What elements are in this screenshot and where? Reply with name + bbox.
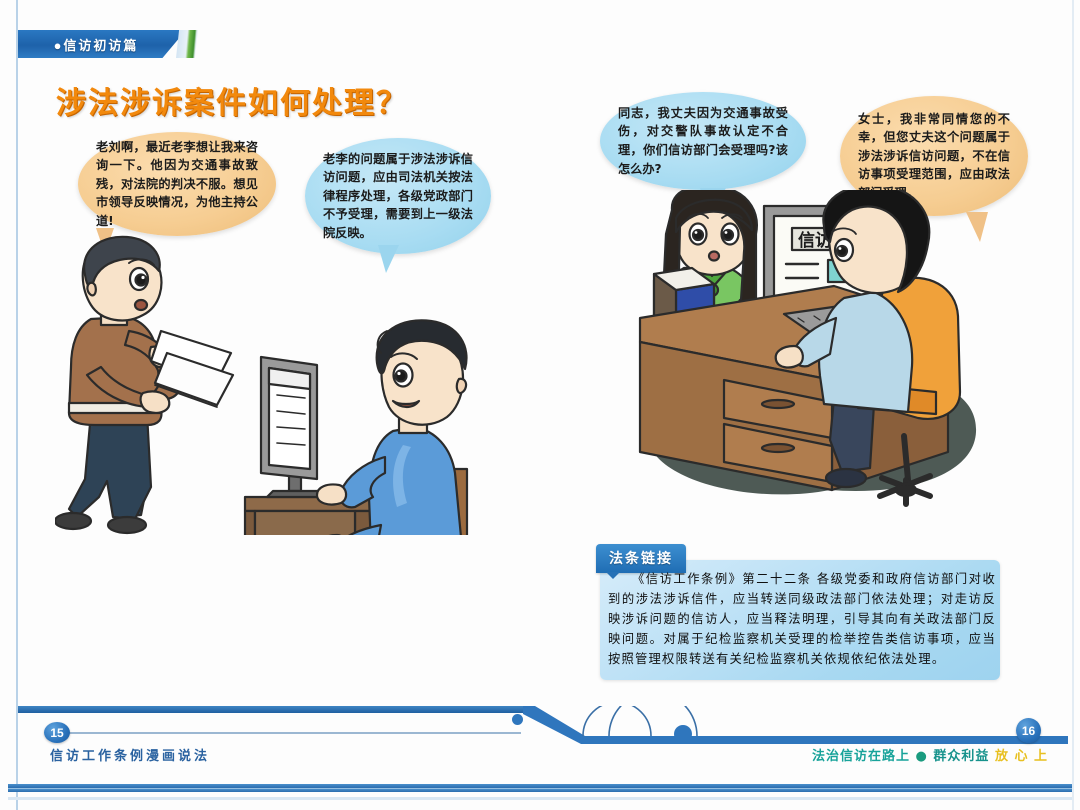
page-left-rule <box>16 0 18 810</box>
footer-slogan-dot: ● <box>916 749 928 764</box>
footer-decorative-arcs <box>523 706 1068 744</box>
footer-book-title: 信访工作条例漫画说法 <box>50 745 210 764</box>
law-reference-label: 法条链接 <box>596 544 686 573</box>
speech-bubble-left-orange: 老刘啊，最近老李想让我来咨询一下。他因为交通事故致残，对法院的判决不服。想见市领… <box>78 132 276 236</box>
footer-dot <box>512 714 523 725</box>
left-scene-illustration <box>55 235 475 535</box>
footer-thin-rule <box>66 732 521 734</box>
footer-rule-bottom-secondary <box>8 797 1072 800</box>
speech-bubble-left-orange-text: 老刘啊，最近老李想让我来咨询一下。他因为交通事故致残，对法院的判决不服。想见市领… <box>96 138 258 231</box>
right-scene-illustration: 信访管理 <box>618 190 1008 535</box>
footer-slogan-part-c: 放 心 上 <box>995 749 1048 764</box>
footer-rule-left <box>18 706 528 713</box>
speech-bubble-right-blue: 同志，我丈夫因为交通事故受伤，对交警队事故认定不合理，你们信访部门会受理吗?该怎… <box>600 92 806 190</box>
page-title: 涉法涉诉案件如何处理？ <box>56 78 408 122</box>
page-number-right: 16 <box>1016 718 1041 743</box>
green-bookmark-icon <box>176 30 198 58</box>
section-tab[interactable]: ●信访初访篇 <box>18 30 186 58</box>
footer-rule-bottom <box>8 784 1072 792</box>
law-reference-text: 《信访工作条例》第二十二条 各级党委和政府信访部门对收到的涉法涉诉信件，应当转送… <box>608 570 996 670</box>
page-right-rule <box>1072 0 1074 810</box>
speech-bubble-right-orange-text: 女士，我非常同情您的不幸，但您丈夫这个问题属于涉法涉诉信访问题，不在信访事项受理… <box>858 110 1010 203</box>
comic-page: ●信访初访篇 涉法涉诉案件如何处理？ 老刘啊，最近老李想让我来咨询一下。他因为交… <box>0 0 1080 810</box>
speech-bubble-right-blue-text: 同志，我丈夫因为交通事故受伤，对交警队事故认定不合理，你们信访部门会受理吗?该怎… <box>618 104 788 178</box>
footer-slogan-part-b: 群众利益 <box>933 749 989 764</box>
footer-slogan-part-a: 法治信访在路上 <box>812 749 910 764</box>
speech-bubble-left-blue-text: 老李的问题属于涉法涉诉信访问题，应由司法机关按法律程序处理，各级党政部门不予受理… <box>323 150 473 243</box>
page-number-left: 15 <box>44 722 70 743</box>
footer-slogan: 法治信访在路上 ● 群众利益 放 心 上 <box>812 745 1048 764</box>
section-tab-label: ●信访初访篇 <box>54 35 151 54</box>
